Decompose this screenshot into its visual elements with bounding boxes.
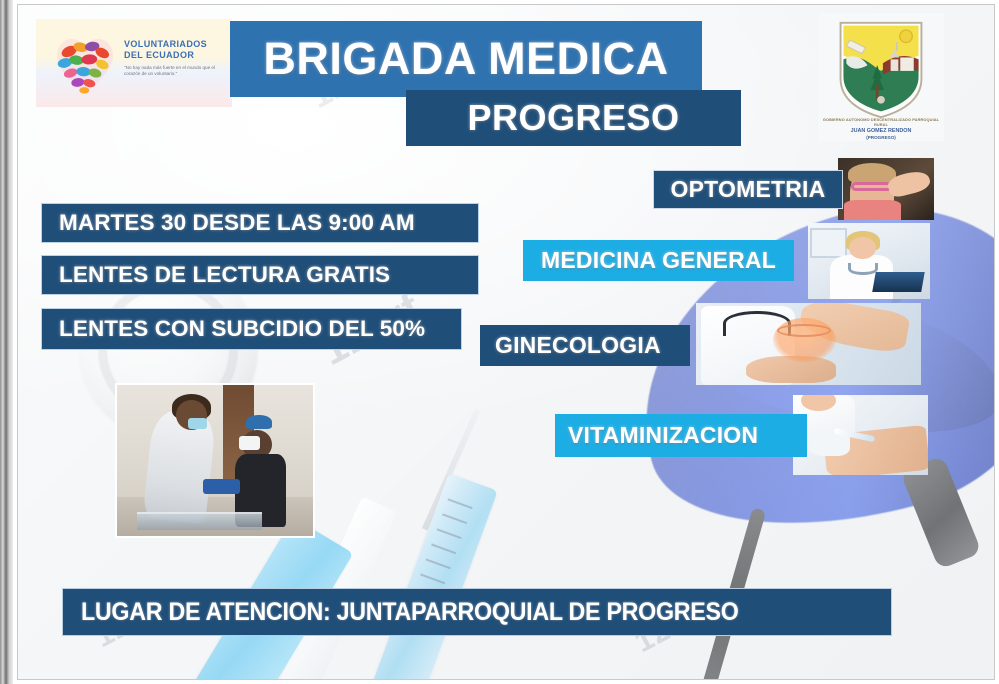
gad-line1: GOBIERNO AUTONOMO DESCENTRALIZADO PARROQ… xyxy=(822,117,940,127)
poster-title-primary: BRIGADA MEDICA xyxy=(230,21,702,97)
service-label: VITAMINIZACION xyxy=(568,422,758,449)
info-bar-text: MARTES 30 DESDE LAS 9:00 AM xyxy=(59,210,415,236)
nurse-face-mask xyxy=(188,418,208,429)
info-bar-subsidized-glasses: LENTES CON SUBCIDIO DEL 50% xyxy=(41,308,462,350)
poster-title-line1-text: BRIGADA MEDICA xyxy=(263,33,668,85)
info-bar-text: LENTES DE LECTURA GRATIS xyxy=(59,262,390,288)
gad-line3: (PROGRESO) xyxy=(822,135,940,141)
photo-vaccination-injection xyxy=(793,395,928,475)
colorful-hands-heart-icon xyxy=(48,27,122,99)
voluntariados-logo-text: VOLUNTARIADOS DEL ECUADOR "No hay nada m… xyxy=(124,39,228,78)
shield-crest-icon xyxy=(832,17,930,121)
photo-content xyxy=(793,395,928,475)
photo-gynecology-illustration xyxy=(696,303,921,385)
photo-doctor-at-desk xyxy=(808,223,930,299)
window-edge-strip xyxy=(0,0,13,684)
poster-title-secondary: PROGRESO xyxy=(406,90,741,146)
patient-face-mask xyxy=(239,436,261,450)
voluntariados-tagline: "No hay nada más fuerte en el mundo que … xyxy=(124,65,228,78)
photo-optometry-child-glasses xyxy=(838,158,934,220)
service-label: MEDICINA GENERAL xyxy=(541,247,776,274)
gad-parroquial-emblem: GOBIERNO AUTONOMO DESCENTRALIZADO PARROQ… xyxy=(818,13,944,141)
voluntariados-line2: DEL ECUADOR xyxy=(124,50,228,61)
photo-content xyxy=(696,303,921,385)
service-band-ginecologia: GINECOLOGIA xyxy=(480,325,690,366)
blood-pressure-cuff xyxy=(203,479,240,494)
footer-location-text: LUGAR DE ATENCION: JUNTAPARROQUIAL DE PR… xyxy=(81,598,739,627)
gad-line2: JUAN GOMEZ RENDON xyxy=(822,128,940,135)
photo-content xyxy=(838,158,934,220)
child-shirt xyxy=(844,200,902,220)
laptop xyxy=(872,272,924,292)
footer-location-banner: LUGAR DE ATENCION: JUNTAPARROQUIAL DE PR… xyxy=(62,588,892,636)
info-bar-text: LENTES CON SUBCIDIO DEL 50% xyxy=(59,316,425,342)
voluntariados-line1: VOLUNTARIADOS xyxy=(124,39,228,50)
info-bar-date-time: MARTES 30 DESDE LAS 9:00 AM xyxy=(41,203,479,243)
wall-monitor xyxy=(810,228,847,258)
poster-title-line2-text: PROGRESO xyxy=(467,97,679,139)
patient-cap xyxy=(246,415,271,429)
gad-emblem-caption: GOBIERNO AUTONOMO DESCENTRALIZADO PARROQ… xyxy=(822,117,940,141)
service-band-medicina-general: MEDICINA GENERAL xyxy=(523,240,794,281)
photo-content xyxy=(117,385,313,536)
glass-table xyxy=(137,512,262,530)
poster-viewport: 10 123rf 123rf 123rf 123rf 123rf xyxy=(0,0,999,684)
info-bar-free-reading-glasses: LENTES DE LECTURA GRATIS xyxy=(41,255,479,295)
service-label: GINECOLOGIA xyxy=(495,332,661,359)
poster-slide: 10 123rf 123rf 123rf 123rf 123rf xyxy=(17,4,995,680)
service-band-optometria: OPTOMETRIA xyxy=(653,170,843,209)
service-label: OPTOMETRIA xyxy=(671,176,826,203)
voluntariados-logo: VOLUNTARIADOS DEL ECUADOR "No hay nada m… xyxy=(36,19,232,107)
photo-nurse-taking-blood-pressure xyxy=(115,383,315,538)
service-band-vitaminizacion: VITAMINIZACION xyxy=(555,414,807,457)
doctor-stethoscope xyxy=(848,263,877,275)
photo-content xyxy=(808,223,930,299)
